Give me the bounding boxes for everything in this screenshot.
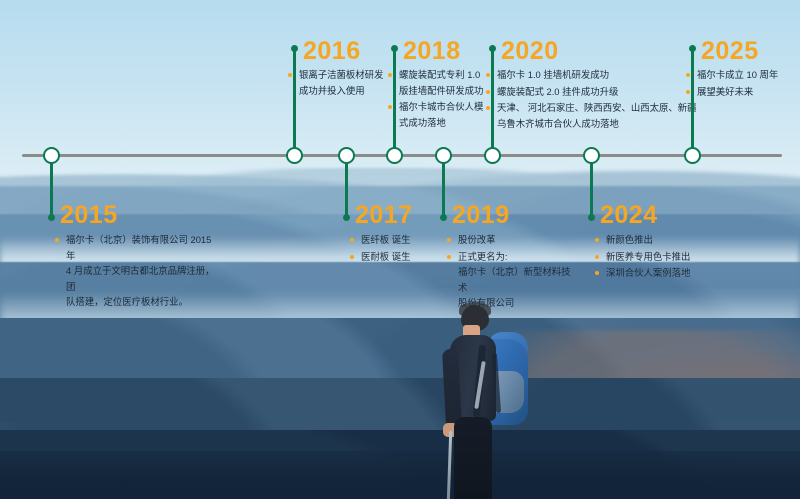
event-year: 2017 (355, 203, 413, 228)
bullet-item: 正式更名为: 福尔卡（北京）新型材料技术 股份有限公司 (447, 249, 577, 311)
connector-stem (691, 47, 694, 157)
event-year: 2024 (600, 203, 658, 228)
timeline-node[interactable] (484, 147, 501, 164)
stem-end-dot (489, 45, 496, 52)
event-bullets: 福尔卡成立 10 周年 展望美好未来 (686, 67, 800, 100)
timeline-node[interactable] (386, 147, 403, 164)
connector-stem (345, 155, 348, 217)
bullet-item: 天津、 河北石家庄、陕西西安、山西太原、新疆 乌鲁木齐城市合伙人成功落地 (486, 100, 716, 131)
bullet-item: 福尔卡（北京）装饰有限公司 2015 年 4 月成立于文明古都北京品牌注册，团 … (55, 232, 215, 310)
bullet-item: 新颜色推出 (595, 232, 755, 248)
bullet-item: 股份改革 (447, 232, 577, 248)
stem-end-dot (440, 214, 447, 221)
timeline-node[interactable] (338, 147, 355, 164)
event-year: 2025 (701, 39, 759, 64)
timeline-infographic: 2015 福尔卡（北京）装饰有限公司 2015 年 4 月成立于文明古都北京品牌… (0, 0, 800, 499)
event-year: 2016 (303, 39, 361, 64)
stem-end-dot (588, 214, 595, 221)
timeline-node[interactable] (286, 147, 303, 164)
event-bullets: 股份改革 正式更名为: 福尔卡（北京）新型材料技术 股份有限公司 (447, 232, 577, 312)
hiker-figure (432, 305, 562, 499)
event-bullets: 福尔卡（北京）装饰有限公司 2015 年 4 月成立于文明古都北京品牌注册，团 … (55, 232, 215, 311)
connector-stem (590, 155, 593, 217)
bullet-item: 展望美好未来 (686, 84, 800, 100)
event-bullets: 新颜色推出 新医养专用色卡推出 深圳合伙人案例落地 (595, 232, 755, 282)
timeline-node[interactable] (684, 147, 701, 164)
foreground-shadow (0, 451, 800, 499)
event-year: 2015 (60, 203, 118, 228)
trekking-pole (447, 431, 453, 499)
connector-stem (442, 155, 445, 217)
bullet-item: 新医养专用色卡推出 (595, 249, 755, 265)
connector-stem (50, 155, 53, 217)
bullet-item: 福尔卡成立 10 周年 (686, 67, 800, 83)
stem-end-dot (343, 214, 350, 221)
bullet-item: 深圳合伙人案例落地 (595, 265, 755, 281)
timeline-node[interactable] (435, 147, 452, 164)
event-year: 2018 (403, 39, 461, 64)
event-bullets: 福尔卡 1.0 挂墙机研发成功 螺旋装配式 2.0 挂件成功升级 天津、 河北石… (486, 67, 716, 132)
timeline-node[interactable] (583, 147, 600, 164)
stem-end-dot (391, 45, 398, 52)
stem-end-dot (48, 214, 55, 221)
bullet-item: 螺旋装配式 2.0 挂件成功升级 (486, 84, 716, 100)
timeline-node[interactable] (43, 147, 60, 164)
connector-stem (293, 47, 296, 157)
event-year: 2019 (452, 203, 510, 228)
hiker-legs (454, 417, 492, 499)
bullet-item: 福尔卡 1.0 挂墙机研发成功 (486, 67, 716, 83)
event-year: 2020 (501, 39, 559, 64)
stem-end-dot (689, 45, 696, 52)
stem-end-dot (291, 45, 298, 52)
